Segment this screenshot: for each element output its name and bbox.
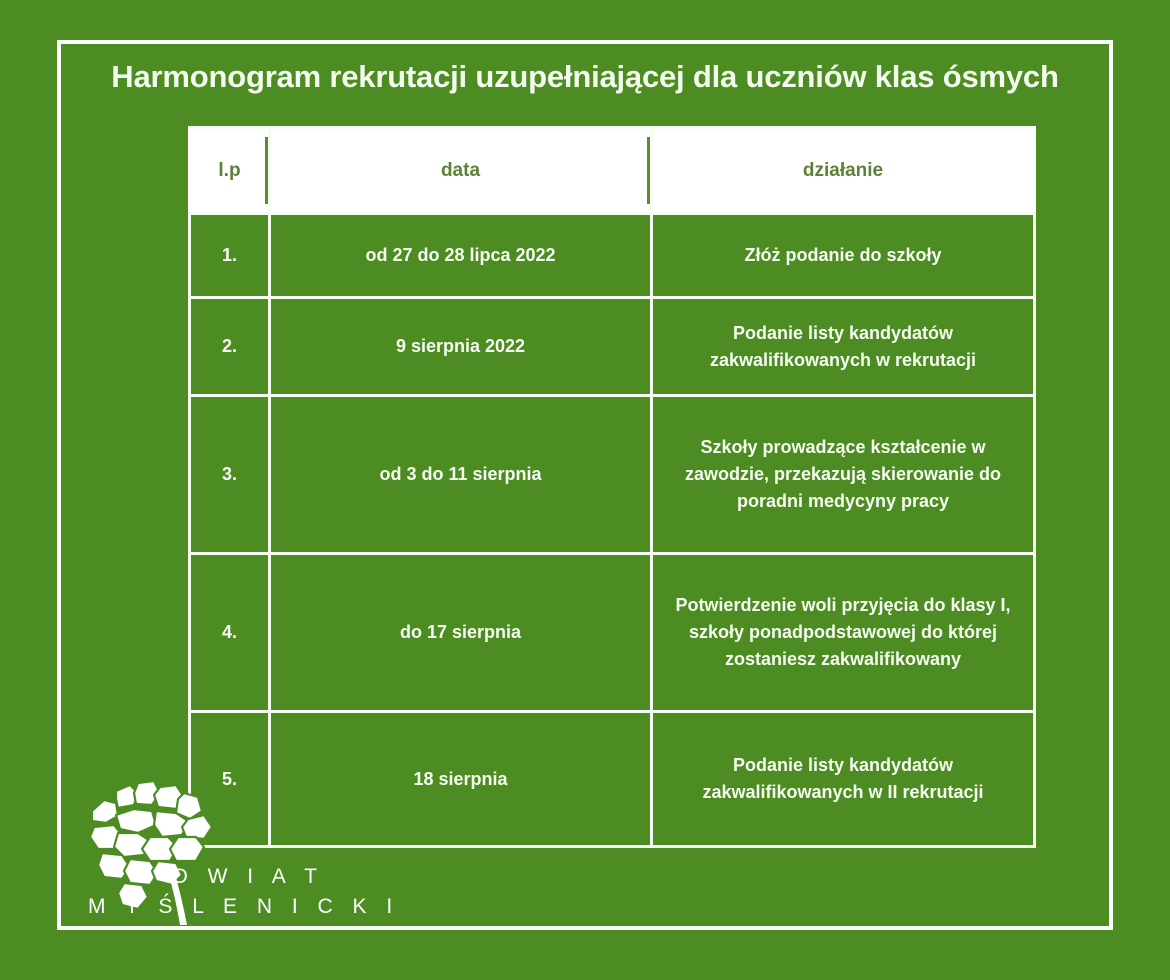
cell-lp: 3. [190, 396, 270, 554]
cell-dzialanie: Szkoły prowadzące kształcenie w zawodzie… [652, 396, 1035, 554]
table-body: 1. od 27 do 28 lipca 2022 Złóż podanie d… [190, 214, 1035, 847]
logo-line-powiat: P O W I A T [138, 865, 324, 888]
recruitment-schedule-table: l.p data działanie 1. od 27 do 28 lipca … [188, 126, 1036, 848]
cell-dzialanie: Podanie listy kandydatów zakwalifikowany… [652, 712, 1035, 847]
table-header-row: l.p data działanie [190, 128, 1035, 214]
table-row: 2. 9 sierpnia 2022 Podanie listy kandyda… [190, 298, 1035, 396]
cell-dzialanie: Podanie listy kandydatów zakwalifikowany… [652, 298, 1035, 396]
logo-wordmark: P O W I A T M Y Ś L E N I C K I [138, 862, 399, 923]
column-header-lp: l.p [190, 128, 270, 214]
logo-line-myslenicki: M Y Ś L E N I C K I [88, 892, 399, 922]
table-row: 5. 18 sierpnia Podanie listy kandydatów … [190, 712, 1035, 847]
cell-data: 9 sierpnia 2022 [270, 298, 652, 396]
cell-dzialanie: Potwierdzenie woli przyjęcia do klasy I,… [652, 554, 1035, 712]
cell-lp: 1. [190, 214, 270, 298]
poster-canvas: Harmonogram rekrutacji uzupełniającej dl… [0, 0, 1170, 980]
cell-lp: 2. [190, 298, 270, 396]
cell-data: od 27 do 28 lipca 2022 [270, 214, 652, 298]
column-header-dzialanie: działanie [652, 128, 1035, 214]
table-row: 3. od 3 do 11 sierpnia Szkoły prowadzące… [190, 396, 1035, 554]
table-header: l.p data działanie [190, 128, 1035, 214]
cell-lp: 4. [190, 554, 270, 712]
cell-data: 18 sierpnia [270, 712, 652, 847]
table-row: 1. od 27 do 28 lipca 2022 Złóż podanie d… [190, 214, 1035, 298]
cell-data: do 17 sierpnia [270, 554, 652, 712]
cell-data: od 3 do 11 sierpnia [270, 396, 652, 554]
column-header-data: data [270, 128, 652, 214]
page-title: Harmonogram rekrutacji uzupełniającej dl… [57, 58, 1113, 97]
cell-dzialanie: Złóż podanie do szkoły [652, 214, 1035, 298]
table-row: 4. do 17 sierpnia Potwierdzenie woli prz… [190, 554, 1035, 712]
